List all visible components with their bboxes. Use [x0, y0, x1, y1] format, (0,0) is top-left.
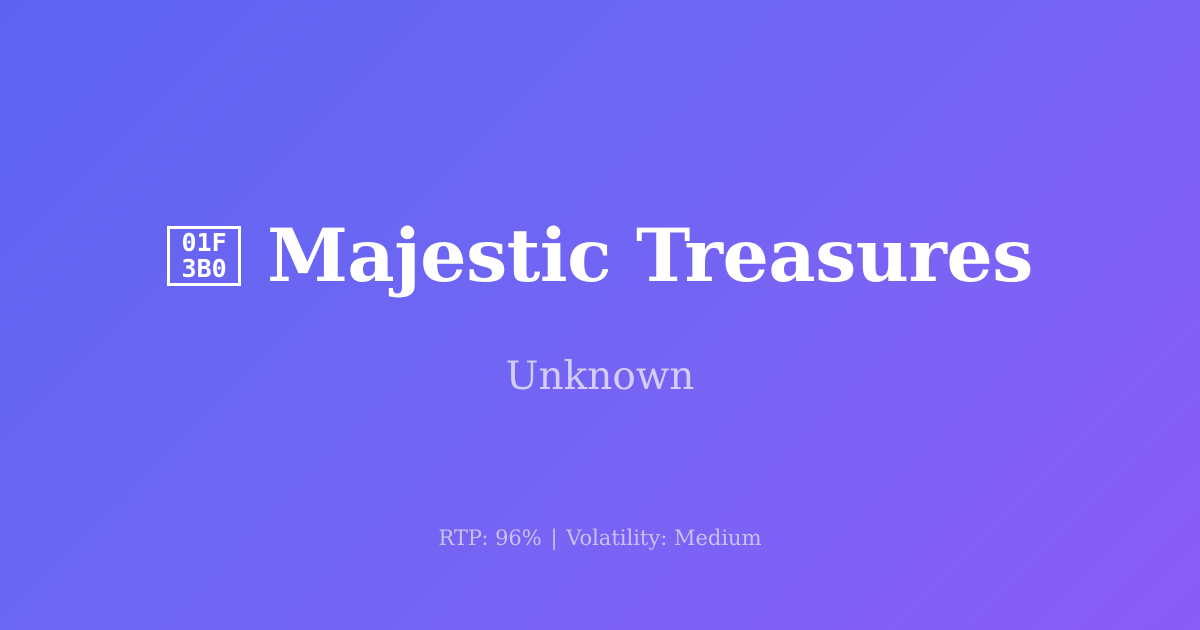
- game-og-card: 01F 3B0 Majestic Treasures Unknown RTP: …: [0, 0, 1200, 630]
- game-title: Majestic Treasures: [267, 218, 1033, 295]
- meta-separator: |: [548, 526, 559, 550]
- emoji-codepoint-low: 3B0: [182, 256, 227, 282]
- title-row: 01F 3B0 Majestic Treasures: [167, 218, 1033, 295]
- rtp-label: RTP: 96%: [438, 526, 541, 550]
- game-meta-line: RTP: 96% | Volatility: Medium: [0, 528, 1200, 549]
- hero-block: 01F 3B0 Majestic Treasures Unknown: [0, 218, 1200, 396]
- emoji-codepoint-high: 01F: [182, 230, 227, 256]
- volatility-label: Volatility: Medium: [566, 526, 761, 550]
- slot-machine-emoji-icon: 01F 3B0: [167, 226, 241, 286]
- game-provider: Unknown: [506, 357, 695, 396]
